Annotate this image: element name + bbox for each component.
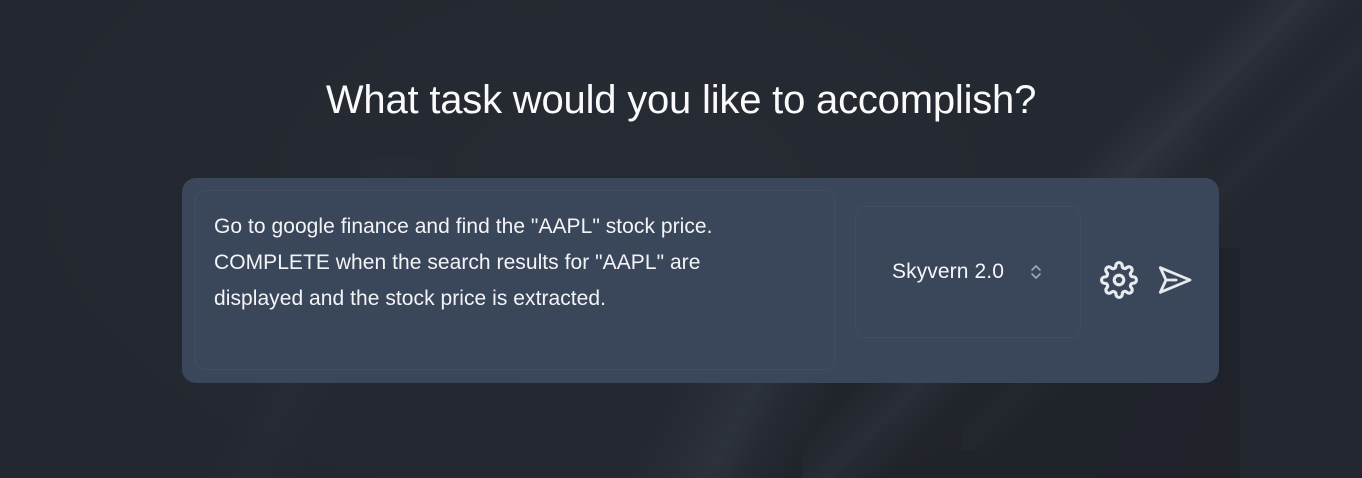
send-button[interactable]	[1155, 260, 1195, 300]
settings-button[interactable]	[1099, 260, 1139, 300]
chevrons-up-down-icon	[1028, 262, 1044, 282]
send-icon	[1155, 259, 1195, 301]
card-controls: Skyvern 2.0	[855, 178, 1195, 383]
gear-icon	[1100, 261, 1138, 299]
task-prompt-input[interactable]	[214, 209, 794, 353]
task-prompt-card: Skyvern 2.0	[182, 178, 1219, 383]
model-select-value: Skyvern 2.0	[892, 260, 1004, 284]
task-prompt-page: What task would you like to accomplish? …	[0, 0, 1362, 478]
page-title: What task would you like to accomplish?	[0, 74, 1362, 126]
model-select[interactable]: Skyvern 2.0	[855, 206, 1081, 338]
task-prompt-input-container[interactable]	[195, 190, 835, 370]
